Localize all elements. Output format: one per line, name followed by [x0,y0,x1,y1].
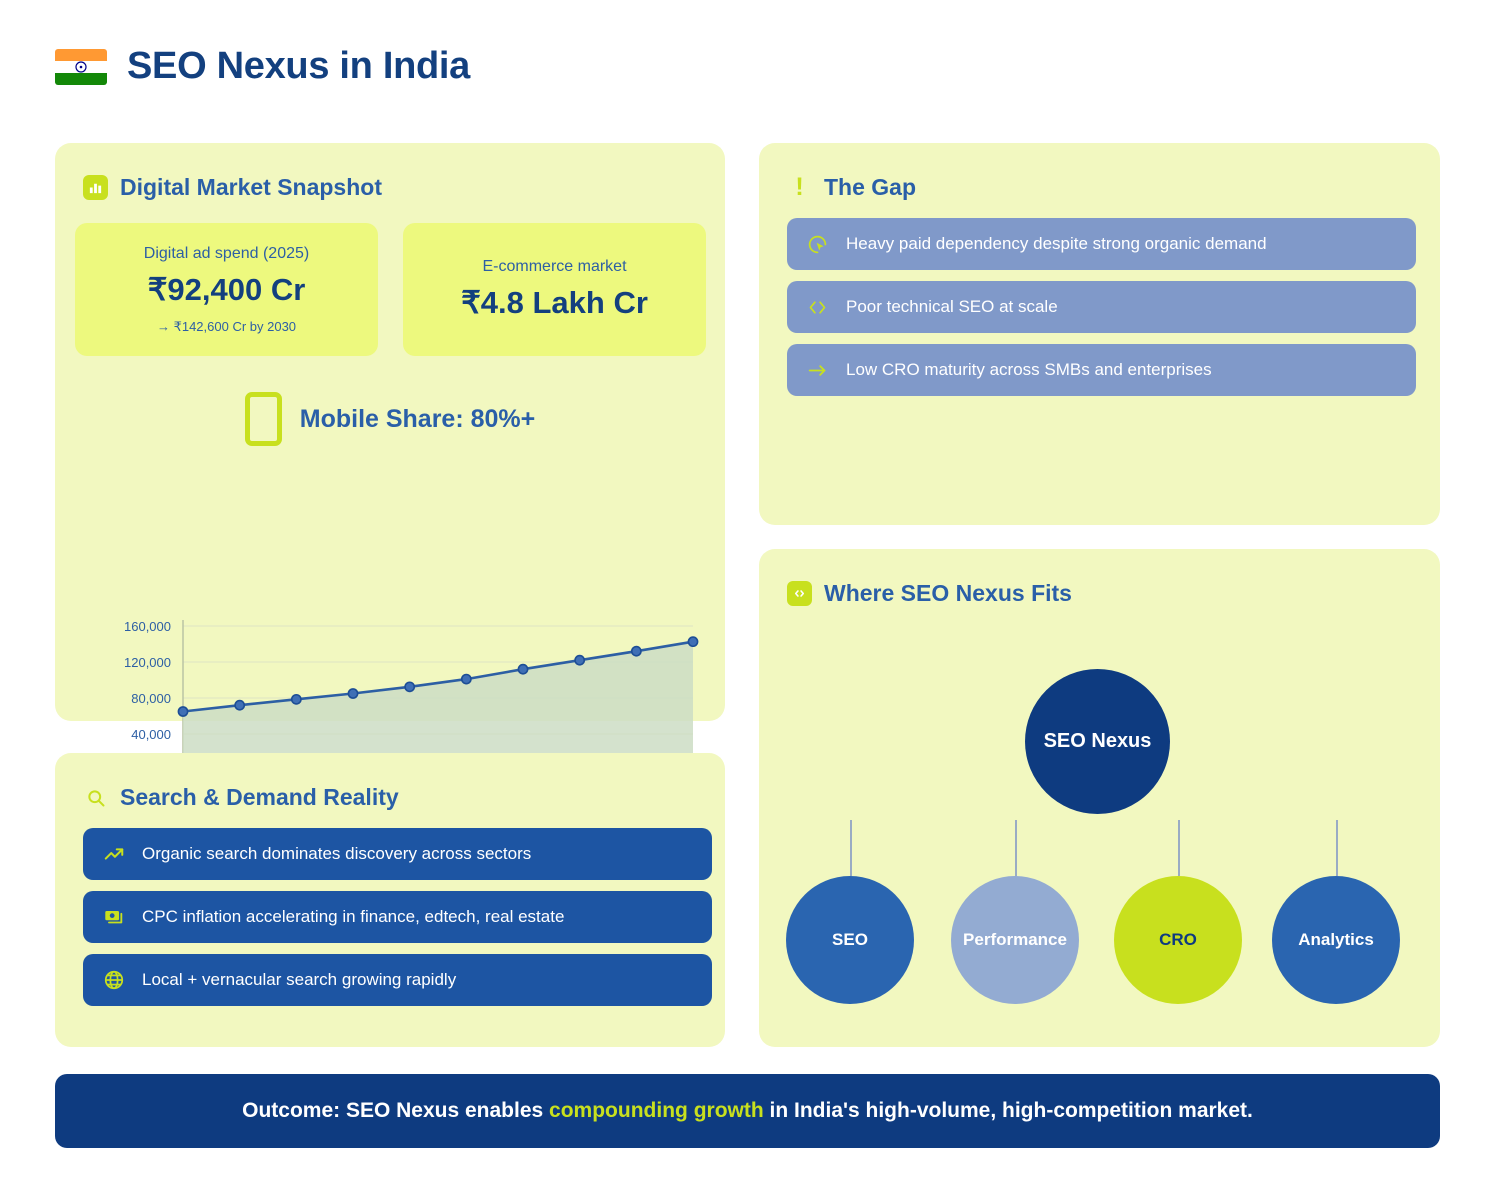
svg-text:120,000: 120,000 [124,655,171,670]
search-title: Search & Demand Reality [120,784,399,811]
infographic-page: SEO Nexus in India Digital Market Snapsh… [0,0,1500,1188]
stat-value: ₹92,400 Cr [148,272,306,308]
node-label: CRO [1159,930,1197,950]
connector-analytics [1336,820,1338,876]
outcome-highlight: compounding growth [549,1099,764,1122]
bar-chart-icon [83,175,108,200]
svg-text:80,000: 80,000 [131,691,171,706]
snapshot-header: Digital Market Snapshot [55,143,725,201]
connector-cro [1178,820,1180,876]
svg-text:40,000: 40,000 [131,727,171,742]
gap-title: The Gap [824,174,916,201]
page-title: SEO Nexus in India [127,45,470,88]
search-list: Organic search dominates discovery acros… [55,811,725,1006]
india-flag-icon [55,49,107,85]
gap-item-label: Poor technical SEO at scale [846,297,1058,317]
stat-tiles: Digital ad spend (2025) ₹92,400 Cr → ₹14… [55,201,725,356]
stat-tile-ad-spend: Digital ad spend (2025) ₹92,400 Cr → ₹14… [75,223,378,356]
search-item-organic[interactable]: Organic search dominates discovery acros… [83,828,712,880]
mobile-share-text: Mobile Share: 80%+ [300,405,536,434]
node-cro[interactable]: CRO [1114,876,1242,1004]
code-brackets-icon [805,295,830,320]
the-gap-card: ! The Gap Heavy paid dependency despite … [759,143,1440,525]
stat-value: ₹4.8 Lakh Cr [461,285,648,321]
stat-label: E-commerce market [482,258,626,276]
page-header: SEO Nexus in India [55,45,470,88]
search-demand-reality-card: Search & Demand Reality Organic search d… [55,753,725,1047]
globe-icon [101,968,126,993]
stat-label: Digital ad spend (2025) [144,245,309,263]
search-item-label: Local + vernacular search growing rapidl… [142,970,456,990]
connector-seo [850,820,852,876]
outcome-text: Outcome: SEO Nexus enables compounding g… [242,1099,1253,1123]
clipboard-code-icon [787,581,812,606]
digital-market-snapshot-card: Digital Market Snapshot Digital ad spend… [55,143,725,721]
where-seo-nexus-fits-card: Where SEO Nexus Fits SEO Nexus SEO Perfo… [759,549,1440,1047]
node-label: SEO [832,930,868,950]
gap-list: Heavy paid dependency despite strong org… [759,201,1440,396]
node-label: Analytics [1298,930,1374,950]
fits-header: Where SEO Nexus Fits [759,549,1440,607]
node-label: SEO Nexus [1044,730,1152,753]
snapshot-title: Digital Market Snapshot [120,174,382,201]
trending-up-icon [101,842,126,867]
gap-item-cro-maturity[interactable]: Low CRO maturity across SMBs and enterpr… [787,344,1416,396]
search-item-cpc[interactable]: CPC inflation accelerating in finance, e… [83,891,712,943]
stat-sub: → ₹142,600 Cr by 2030 [157,319,296,335]
fits-title: Where SEO Nexus Fits [824,580,1072,607]
banknote-icon [101,905,126,930]
arrow-right-icon [805,358,830,383]
connector-performance [1015,820,1017,876]
gap-item-label: Heavy paid dependency despite strong org… [846,234,1267,254]
node-performance[interactable]: Performance [951,876,1079,1004]
outcome-suffix: in India's high-volume, high-competition… [764,1099,1253,1122]
outcome-prefix: Outcome: SEO Nexus enables [242,1099,549,1122]
mobile-phone-icon [245,392,282,446]
click-target-icon [805,232,830,257]
outcome-banner: Outcome: SEO Nexus enables compounding g… [55,1074,1440,1148]
mobile-share-row: Mobile Share: 80%+ [55,392,725,446]
svg-text:160,000: 160,000 [124,619,171,634]
gap-item-technical-seo[interactable]: Poor technical SEO at scale [787,281,1416,333]
search-item-vernacular[interactable]: Local + vernacular search growing rapidl… [83,954,712,1006]
gap-item-paid-dependency[interactable]: Heavy paid dependency despite strong org… [787,218,1416,270]
node-label: Performance [963,930,1067,950]
gap-header: ! The Gap [759,143,1440,201]
search-icon [83,785,108,810]
node-analytics[interactable]: Analytics [1272,876,1400,1004]
node-seo-nexus[interactable]: SEO Nexus [1025,669,1170,814]
nexus-diagram: SEO Nexus SEO Performance CRO Analytics [759,607,1440,1007]
search-header: Search & Demand Reality [55,753,725,811]
node-seo[interactable]: SEO [786,876,914,1004]
search-item-label: Organic search dominates discovery acros… [142,844,531,864]
gap-item-label: Low CRO maturity across SMBs and enterpr… [846,360,1212,380]
search-item-label: CPC inflation accelerating in finance, e… [142,907,564,927]
exclamation-icon: ! [787,175,812,200]
stat-tile-ecommerce: E-commerce market ₹4.8 Lakh Cr [403,223,706,356]
